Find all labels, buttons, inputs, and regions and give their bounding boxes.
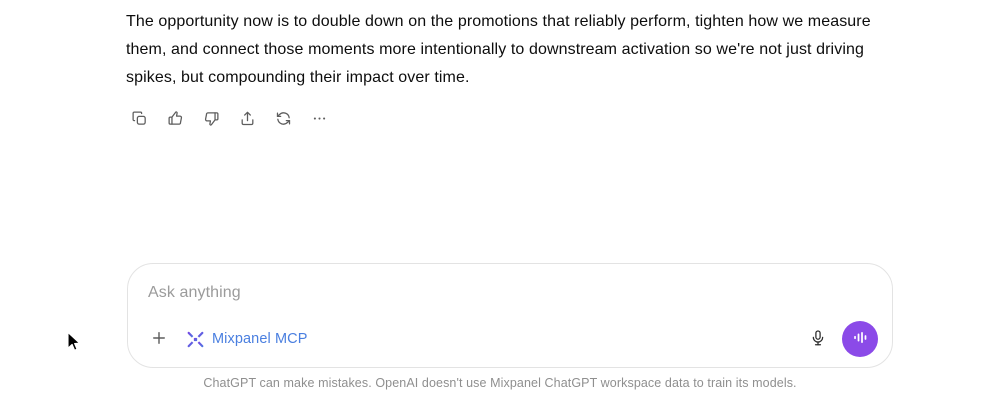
copy-button[interactable]: [125, 104, 153, 132]
mixpanel-logo-icon: [186, 330, 205, 349]
more-options-icon: [311, 110, 328, 127]
copy-icon: [131, 110, 148, 127]
assistant-message-text: The opportunity now is to double down on…: [126, 8, 888, 92]
voice-mode-button[interactable]: [842, 321, 878, 357]
thumbs-down-button[interactable]: [197, 104, 225, 132]
mouse-cursor: [66, 331, 82, 353]
plus-icon: [150, 329, 168, 350]
assistant-message: The opportunity now is to double down on…: [126, 8, 888, 92]
thumbs-up-button[interactable]: [161, 104, 189, 132]
thumbs-down-icon: [203, 110, 220, 127]
microphone-icon: [809, 329, 827, 350]
thumbs-up-icon: [167, 110, 184, 127]
more-options-button[interactable]: [305, 104, 333, 132]
composer[interactable]: Ask anything: [127, 263, 893, 368]
share-icon: [239, 110, 256, 127]
mixpanel-mcp-chip[interactable]: Mixpanel MCP: [182, 326, 315, 353]
chat-screen: The opportunity now is to double down on…: [0, 0, 1000, 400]
dictate-button[interactable]: [802, 323, 834, 355]
regenerate-button[interactable]: [269, 104, 297, 132]
prompt-input[interactable]: Ask anything: [148, 284, 241, 302]
composer-toolbar: Mixpanel MCP: [128, 311, 892, 367]
add-attachment-button[interactable]: [144, 324, 174, 354]
share-button[interactable]: [233, 104, 261, 132]
footer-disclaimer: ChatGPT can make mistakes. OpenAI doesn'…: [0, 376, 1000, 390]
waveform-icon: [851, 328, 870, 350]
regenerate-icon: [275, 110, 292, 127]
mixpanel-mcp-label: Mixpanel MCP: [212, 331, 307, 347]
message-action-toolbar: [125, 104, 333, 132]
